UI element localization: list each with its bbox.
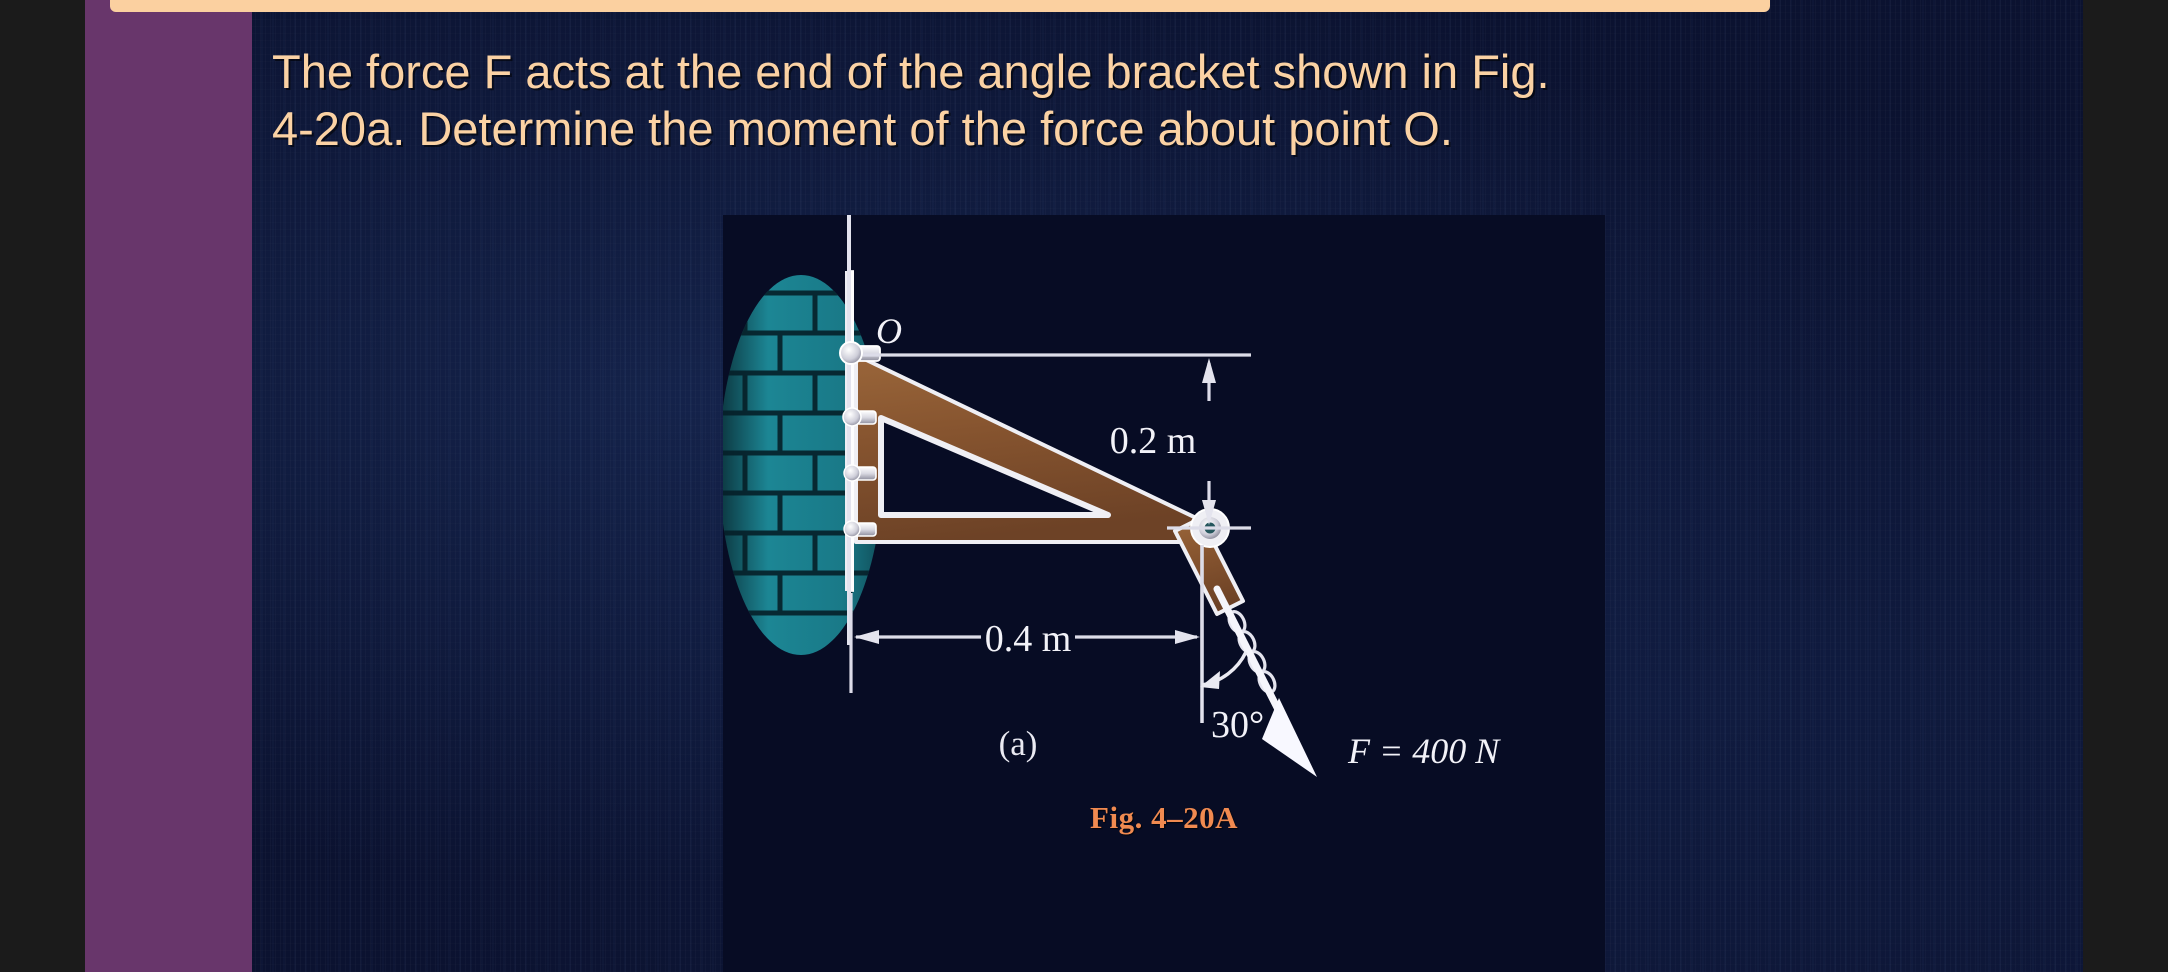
figure-panel: O F = 400 N [723, 215, 1605, 972]
angle-label: 30° [1211, 704, 1264, 746]
figure-caption: Fig. 4–20A [723, 800, 1605, 836]
dimension-horizontal-label: 0.4 m [985, 618, 1072, 660]
question-line-2: 4-20a. Determine the moment of the force… [272, 101, 1992, 158]
bracket-diagram: O F = 400 N [723, 215, 1605, 972]
dim-arrow-up [1202, 358, 1216, 383]
slide-top-banner [110, 0, 1770, 12]
left-gutter [0, 0, 85, 972]
figure-sub-label: (a) [999, 724, 1038, 763]
mounting-plate [845, 215, 854, 645]
point-o-label: O [876, 311, 902, 351]
dim-arrow-left [854, 630, 879, 644]
slide-screen: The force F acts at the end of the angle… [0, 0, 2168, 972]
point-o-pin [840, 342, 880, 364]
dim-arrow-right [1175, 630, 1200, 644]
question-line-1: The force F acts at the end of the angle… [272, 44, 1992, 101]
question-text: The force F acts at the end of the angle… [272, 44, 1992, 158]
right-gutter [2083, 0, 2168, 972]
dimension-vertical-label: 0.2 m [1110, 420, 1197, 462]
force-label: F = 400 N [1347, 731, 1501, 771]
slide-sidebar-accent [85, 0, 252, 972]
force-arrow [1217, 589, 1317, 777]
